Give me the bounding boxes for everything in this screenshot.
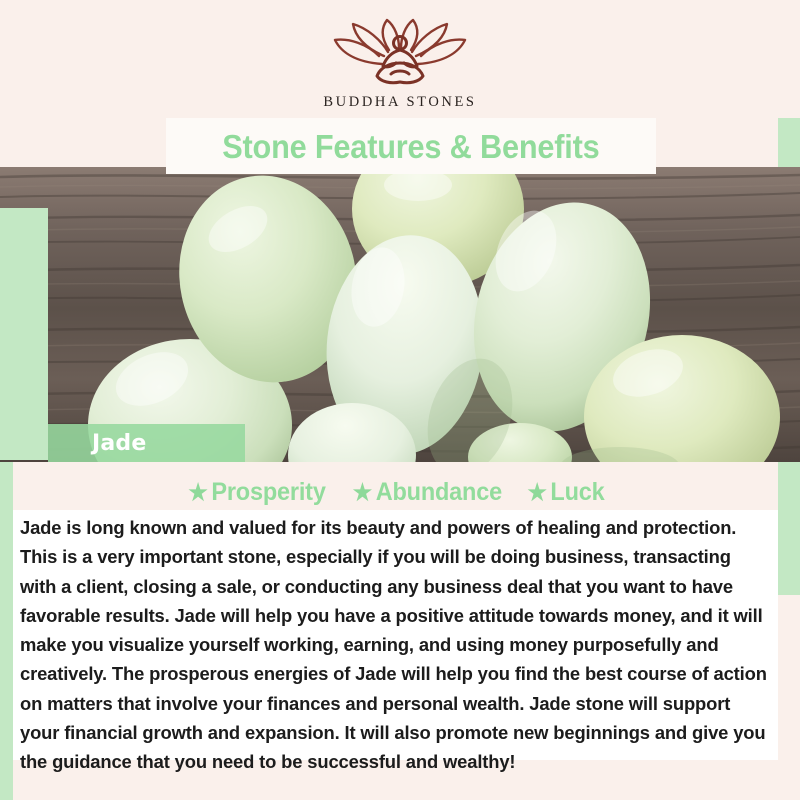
jade-stones-photo (0, 167, 800, 462)
infographic-page: BUDDHA STONES Stone Features & Benefits … (0, 0, 800, 800)
stone-name-bar: Jade (48, 424, 245, 462)
benefit-label: Abundance (376, 478, 502, 506)
description-text: Jade is long known and valued for its be… (20, 513, 771, 777)
benefit-label: Luck (551, 478, 605, 506)
benefit-label: Prosperity (211, 478, 325, 506)
star-icon: ★ (353, 479, 372, 505)
brand-name: BUDDHA STONES (285, 94, 515, 111)
header-band: BUDDHA STONES (0, 0, 800, 118)
page-title: Stone Features & Benefits (222, 130, 599, 163)
benefit-item-prosperity: ★Prosperity (188, 478, 325, 507)
star-icon: ★ (528, 479, 547, 505)
decorative-green-block-left (0, 208, 48, 460)
content-panel: ★Prosperity ★Abundance ★Luck Jade is lon… (13, 462, 778, 780)
brand-logo: BUDDHA STONES (285, 18, 515, 111)
star-icon: ★ (188, 479, 207, 505)
benefits-row: ★Prosperity ★Abundance ★Luck (13, 478, 778, 507)
stone-name-label: Jade (92, 431, 147, 456)
benefit-item-abundance: ★Abundance (353, 478, 502, 507)
benefit-item-luck: ★Luck (528, 478, 605, 507)
description-panel: Jade is long known and valued for its be… (13, 510, 778, 760)
title-banner: Stone Features & Benefits (166, 118, 656, 174)
lotus-meditation-figure-icon (325, 18, 475, 90)
